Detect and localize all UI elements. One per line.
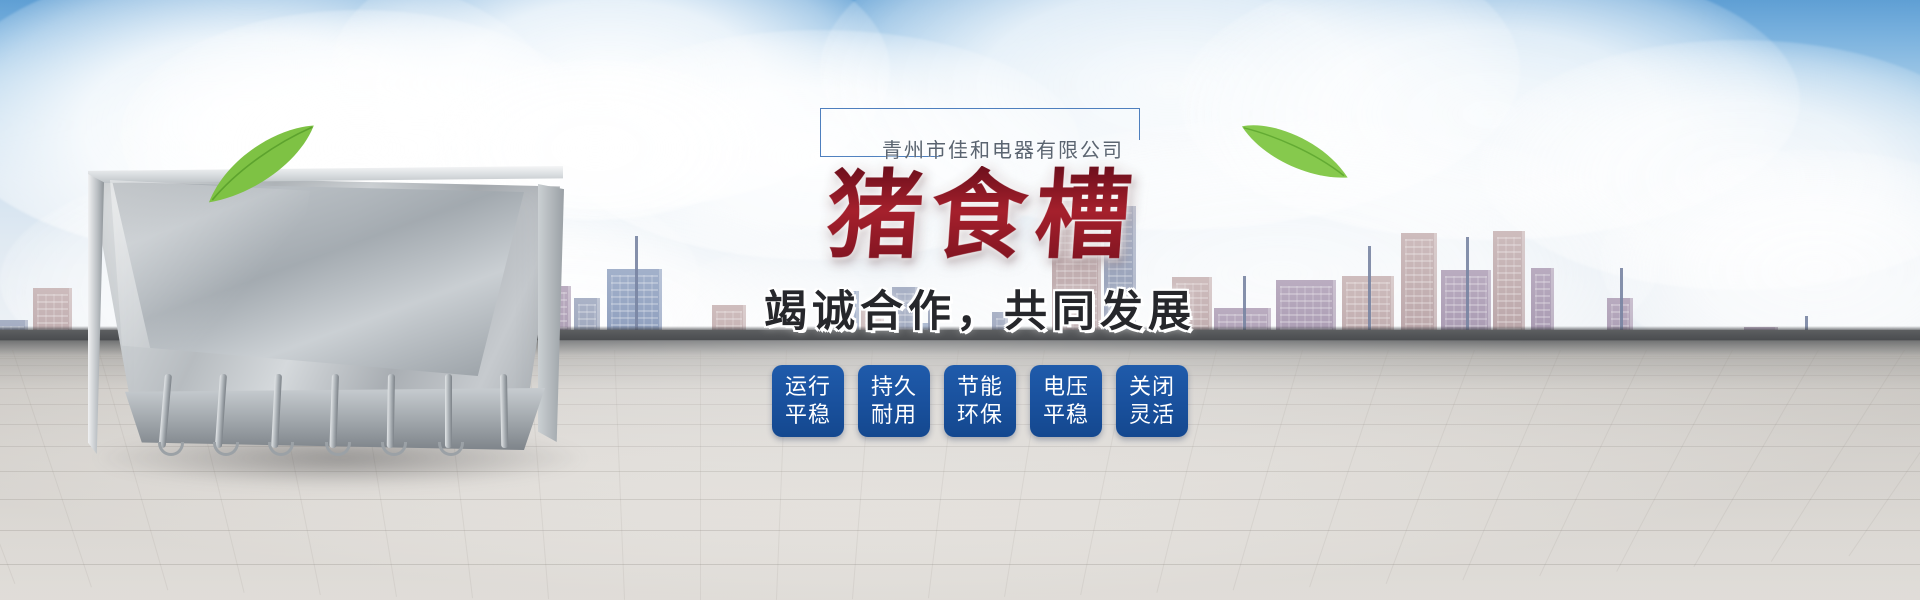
- badge-line-2: 灵活: [1129, 401, 1175, 429]
- badge-line-1: 节能: [957, 373, 1003, 401]
- banner-slogan: 竭诚合作，共同发展: [700, 277, 1260, 339]
- badge-line-1: 电压: [1043, 373, 1089, 401]
- banner-text-block: 青州市佳和电器有限公司 猪食槽 竭诚合作，共同发展 运行平稳持久耐用节能环保电压…: [700, 100, 1260, 437]
- badge-line-1: 运行: [785, 373, 831, 401]
- paving-line-vertical: [1693, 350, 1818, 567]
- badge-line-2: 平稳: [785, 401, 831, 429]
- badge-line-2: 环保: [957, 401, 1003, 429]
- promo-banner: 青州市佳和电器有限公司 猪食槽 竭诚合作，共同发展 运行平稳持久耐用节能环保电压…: [0, 0, 1920, 600]
- feature-badge-4[interactable]: 电压平稳: [1030, 365, 1102, 437]
- paving-line-vertical: [1462, 350, 1561, 580]
- paving-line-vertical: [1386, 350, 1475, 584]
- feature-badge-1[interactable]: 运行平稳: [772, 365, 844, 437]
- company-name-frame: 青州市佳和电器有限公司: [820, 100, 1140, 162]
- badge-line-2: 平稳: [1043, 401, 1089, 429]
- badge-line-2: 耐用: [871, 401, 917, 429]
- paving-line-horizontal: [0, 564, 1920, 565]
- badge-line-1: 关闭: [1129, 373, 1175, 401]
- feature-badge-2[interactable]: 持久耐用: [858, 365, 930, 437]
- paving-line-vertical: [1616, 350, 1733, 572]
- paving-line-vertical: [1309, 350, 1389, 587]
- paving-line-vertical: [0, 350, 15, 584]
- feature-badge-list: 运行平稳持久耐用节能环保电压平稳关闭灵活: [700, 365, 1260, 437]
- feature-badge-5[interactable]: 关闭灵活: [1116, 365, 1188, 437]
- paving-line-horizontal: [0, 499, 1920, 500]
- banner-title: 猪食槽: [696, 166, 1263, 267]
- paving-line-horizontal: [0, 530, 1920, 531]
- badge-line-1: 持久: [871, 373, 917, 401]
- product-image-pig-trough: [70, 160, 590, 490]
- feature-badge-3[interactable]: 节能环保: [944, 365, 1016, 437]
